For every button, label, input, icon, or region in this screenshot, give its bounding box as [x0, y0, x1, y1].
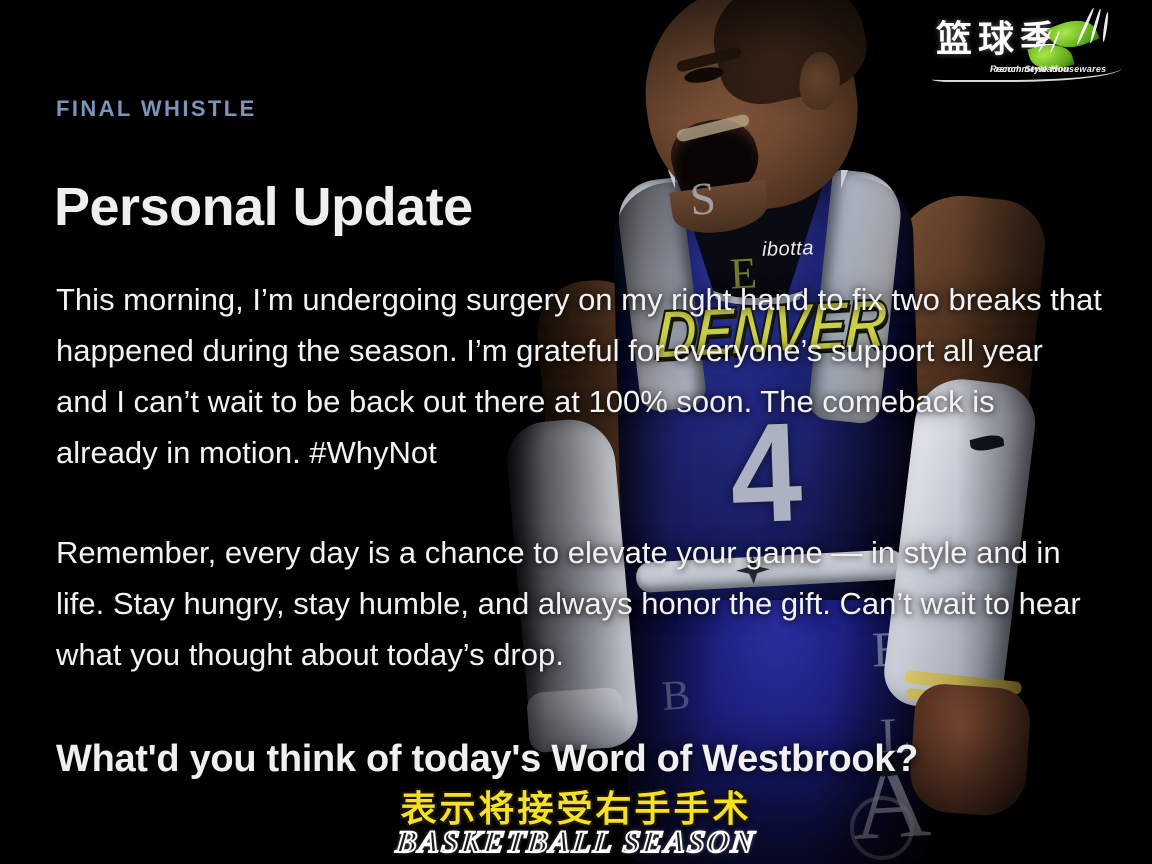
logo-stroke-3 — [1102, 12, 1109, 42]
eyebrow-label: FINAL WHISTLE — [56, 96, 257, 122]
logo-tagline-line2: Recommendation — [990, 64, 1070, 75]
channel-logo: 篮球季 French Style Housewares Recommendati… — [932, 2, 1144, 92]
engagement-question: What'd you think of today's Word of West… — [56, 738, 1116, 781]
subtitle-brand: BASKETBALL SEASON — [0, 824, 1152, 860]
page-title: Personal Update — [54, 176, 473, 238]
video-frame: S ibotta E DENVER 4 B E L A FINAL WHISTL… — [0, 0, 1152, 864]
body-copy: This morning, I’m undergoing surgery on … — [56, 274, 1102, 680]
paragraph-second: Remember, every day is a chance to eleva… — [56, 527, 1102, 680]
paragraph-first: This morning, I’m undergoing surgery on … — [56, 274, 1102, 478]
